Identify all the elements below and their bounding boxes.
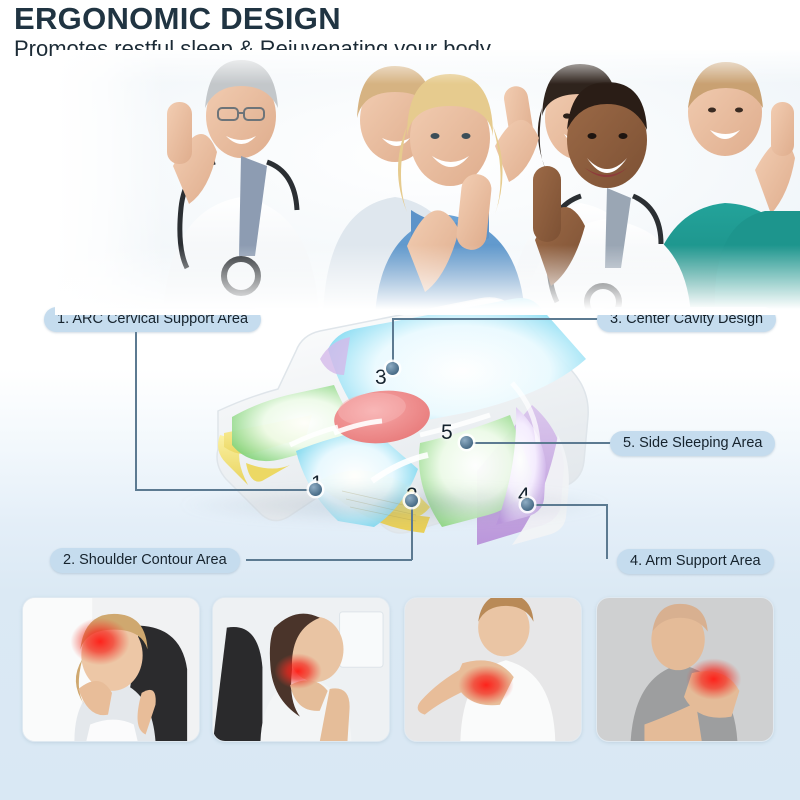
marker-dot-5 — [460, 436, 473, 449]
arm-numbness-illustration — [405, 598, 581, 741]
marker-dot-1 — [309, 483, 322, 496]
leader-line-2-horizontal — [246, 559, 412, 561]
pain-card-neck[interactable]: Neck Pain — [212, 597, 390, 742]
marker-dot-4 — [521, 498, 534, 511]
leader-line-4-horizontal — [527, 504, 607, 506]
leader-line-3-horizontal — [392, 318, 598, 320]
leader-line-2-vertical — [411, 500, 413, 560]
neck-pain-illustration — [213, 598, 389, 741]
callout-label-4[interactable]: 4. Arm Support Area — [617, 549, 774, 574]
pain-card-shoulders[interactable]: Stiff Shoulders — [596, 597, 774, 742]
leader-line-4-vertical — [606, 504, 608, 559]
leader-line-1-horizontal — [135, 489, 315, 491]
headache-illustration — [23, 598, 199, 741]
pain-points-row: Headache — [0, 597, 800, 797]
photo-top-fade — [55, 50, 800, 84]
pain-card-headache[interactable]: Headache — [22, 597, 200, 742]
infographic-page: ERGONOMIC DESIGN Promotes restful sleep … — [0, 0, 800, 800]
marker-number-3: 3 — [375, 366, 387, 390]
marker-number-5: 5 — [441, 421, 453, 445]
callout-label-2[interactable]: 2. Shoulder Contour Area — [50, 548, 240, 573]
stiff-shoulders-illustration — [597, 598, 773, 741]
marker-dot-3 — [386, 362, 399, 375]
photo-bottom-fade — [55, 245, 800, 315]
leader-line-5-horizontal — [466, 442, 612, 444]
callout-label-5[interactable]: 5. Side Sleeping Area — [610, 431, 775, 456]
marker-dot-2 — [405, 494, 418, 507]
page-title: ERGONOMIC DESIGN — [14, 1, 341, 37]
pain-card-arm[interactable]: Arm Numbness — [404, 597, 582, 742]
medical-team-photo — [55, 50, 800, 315]
leader-line-1-vertical — [135, 330, 137, 490]
